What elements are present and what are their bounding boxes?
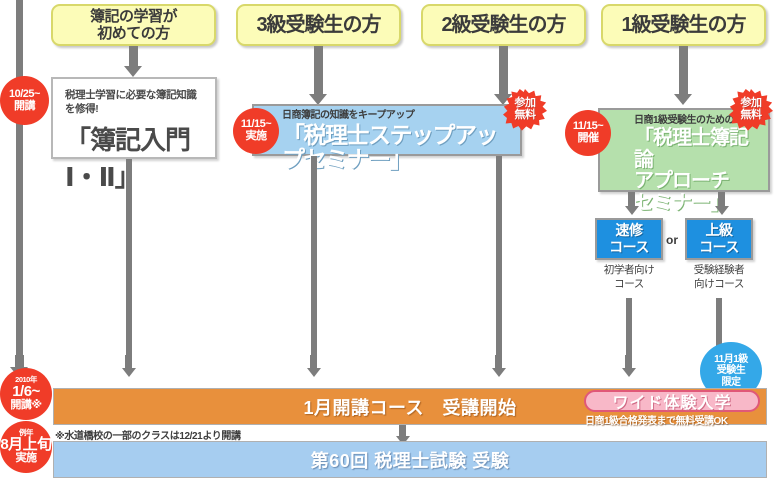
badge-stepup-line2: 実施 [246,131,267,143]
badge-intro-start-line2: 開講 [14,101,35,113]
connector-intro-down-arrow-stem [125,355,132,369]
stepup-seminar-box[interactable]: 日商簿記の知識をキープアップ 「税理士ステップアップセミナー」 [252,104,522,156]
connector-level2-to-stepup-stem [499,46,508,96]
top-box-beginner-line1: 簿記の学習が [90,8,177,25]
connector-stepup-left-down [311,156,317,372]
badge-exam-line1: 8月上旬 [0,437,51,453]
course-box-joukyuu[interactable]: 上級 コース [685,218,753,260]
top-box-level2[interactable]: 2級受験生の方 [421,4,586,46]
course-joukyuu-caption: 受験経験者 向けコース [679,264,759,291]
top-box-level3-label: 3級受験生の方 [256,14,380,37]
intro-course-box[interactable]: 税理士学習に必要な簿記知識を修得! 「簿記入門Ⅰ・Ⅱ」 [51,77,217,159]
connector-stepup-right-down [496,156,502,372]
top-box-beginner[interactable]: 簿記の学習が 初めての方 [51,4,216,46]
connector-intro-down [126,159,132,372]
badge-january-line1: 1/6~ [12,384,40,400]
intro-course-subtitle: 税理士学習に必要な簿記知識を修得! [65,88,205,116]
intro-course-title: 「簿記入門Ⅰ・Ⅱ」 [65,120,205,194]
wide-trial-pill[interactable]: ワイド体験入学 [584,390,760,412]
exam-bar-label: 第60回 税理士試験 受験 [311,447,510,473]
connector-beginner-to-intro-stem [129,46,138,68]
connector-level3-to-stepup-stem [314,46,323,96]
approach-seminar-title-line3: セミナー」 [634,193,760,215]
approach-seminar-title-line1: 「税理士簿記論 [634,128,760,171]
connector-approach-to-sokushu-arrowhead [625,206,639,215]
badge-intro-start-line1: 10/25~ [9,89,40,101]
connector-beginner-to-intro-arrowhead [124,66,142,77]
top-box-level1-label: 1級受験生の方 [621,14,745,37]
badge-january-line2: 開講※ [10,400,41,412]
course-sokushu-caption-line1: 初学者向け [589,264,669,278]
badge-approach-date: 11/15~ 開催 [565,110,611,156]
course-joukyuu-caption-line1: 受験経験者 [679,264,759,278]
top-box-beginner-line2: 初めての方 [90,25,177,42]
course-or-label: or [666,233,678,247]
bubble-line3: 限定 [722,377,741,388]
connector-spine-leftmost [16,0,23,372]
badge-free-stepup-line2: 無料 [515,110,536,122]
course-joukyuu-caption-line2: 向けコース [679,278,759,292]
connector-stepup-left-arrow-stem [310,355,317,369]
badge-exam-line2: 実施 [16,453,37,465]
badge-exam-date: 例年 8月上旬 実施 [0,421,52,473]
course-box-sokushu[interactable]: 速修 コース [595,218,663,260]
course-sokushu-line1: 速修 [609,222,649,239]
january-course-footnote: ※水道橋校の一部のクラスは12/21より開講 [55,427,241,442]
top-box-level2-label: 2級受験生の方 [441,14,565,37]
connector-level1-to-approach-arrowhead [674,94,692,105]
top-box-level1[interactable]: 1級受験生の方 [601,4,766,46]
flowchart-canvas: 簿記の学習が 初めての方 3級受験生の方 2級受験生の方 1級受験生の方 税理士… [0,0,775,484]
approach-seminar-title-line2: アプローチ [634,171,760,193]
connector-approach-to-joukyuu-arrowhead [715,206,729,215]
badge-stepup-date: 11/15~ 実施 [233,108,279,154]
wide-trial-note: 日商1級合格発表まで無料受講OK [585,412,728,427]
badge-approach-line2: 開催 [578,133,599,145]
january-course-label: 1月開講コース 受講開始 [303,394,516,420]
connector-intro-down-arrowhead [122,368,136,377]
top-box-level3[interactable]: 3級受験生の方 [236,4,401,46]
bubble-line1: 11月1級 [714,354,748,365]
course-sokushu-caption-line2: コース [589,278,669,292]
bubble-line2: 受験生 [717,365,746,376]
connector-stepup-right-arrow-stem [495,355,502,369]
stepup-seminar-subtitle: 日商簿記の知識をキープアップ [282,110,514,122]
connector-sokushu-down-arrow-stem [625,355,632,369]
exam-bar[interactable]: 第60回 税理士試験 受験 [53,441,767,478]
wide-trial-pill-label: ワイド体験入学 [612,389,731,413]
course-joukyuu-line1: 上級 [699,222,739,239]
connector-stepup-right-arrowhead [492,368,506,377]
course-joukyuu-line2: コース [699,239,739,256]
connector-level1-to-approach-stem [679,46,688,96]
connector-stepup-left-arrowhead [307,368,321,377]
badge-free-approach-line2: 無料 [741,110,762,122]
course-sokushu-caption: 初学者向け コース [589,264,669,291]
course-sokushu-line2: コース [609,239,649,256]
badge-intro-start-date: 10/25~ 開講 [0,76,49,125]
connector-sokushu-down-arrowhead [622,368,636,377]
badge-january-start-date: 2010年 1/6~ 開講※ [0,368,52,420]
